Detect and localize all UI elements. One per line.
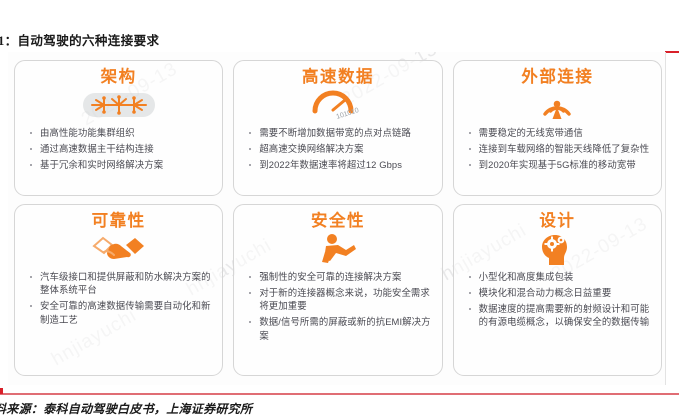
- speedometer-icon: 101010: [242, 88, 433, 122]
- list-item: 连接到车载网络的智能天线降低了复杂性: [466, 142, 651, 155]
- requirement-card-high-speed-data[interactable]: 高速数据 101010 需要不断增加数据带宽的点对点链路 超高速交换网络解决方案…: [233, 60, 442, 196]
- bottom-red-rule: [0, 393, 679, 395]
- list-item: 对于新的连接器概念来说，功能安全需求将更加重要: [246, 286, 431, 313]
- card-bullet-list: 小型化和高度集成包装 模块化和混合动力概念日益重要 数据速度的提高需要新的射频设…: [462, 270, 653, 328]
- list-item: 由高性能功能集群组织: [27, 126, 212, 139]
- list-item: 小型化和高度集成包装: [466, 270, 651, 283]
- list-item: 基于冗余和实时网络解决方案: [27, 158, 212, 171]
- requirement-card-external-connectivity[interactable]: 外部连接 需要稳定的无线宽带通信 连接到车载网络的智能天线降低了复杂性 到202…: [453, 60, 662, 196]
- card-title: 设计: [462, 212, 653, 230]
- bottom-rule-cap: [0, 388, 3, 394]
- list-item: 需要不断增加数据带宽的点对点链路: [246, 126, 431, 139]
- card-title: 高速数据: [242, 68, 433, 86]
- figure-source: 料来源：泰科自动驾驶白皮书，上海证券研究所: [0, 400, 252, 417]
- list-item: 数据速度的提高需要新的射频设计和可能的有源电缆概念，以确保安全的数据传输: [466, 302, 651, 329]
- head-gears-icon: [462, 232, 653, 266]
- card-bullet-list: 由高性能功能集群组织 通过高速数据主干结构连接 基于冗余和实时网络解决方案: [23, 126, 214, 171]
- list-item: 数据/信号所需的屏蔽或新的抗EMI解决方案: [246, 315, 431, 342]
- list-item: 强制性的安全可靠的连接解决方案: [246, 270, 431, 283]
- list-item: 安全可靠的高速数据传输需要自动化和新制造工艺: [27, 299, 212, 326]
- figure-canvas: 2022-09-13 hnjiayuchi 2022-09-13 hnjiayu…: [8, 52, 666, 385]
- card-bullet-list: 强制性的安全可靠的连接解决方案 对于新的连接器概念来说，功能安全需求将更加重要 …: [242, 270, 433, 342]
- list-item: 通过高速数据主干结构连接: [27, 142, 212, 155]
- list-item: 到2022年数据速率将超过12 Gbps: [246, 158, 431, 171]
- handshake-icon: [23, 232, 214, 266]
- airbag-person-icon: [242, 232, 433, 266]
- card-title: 安全性: [242, 212, 433, 230]
- card-bullet-list: 需要稳定的无线宽带通信 连接到车载网络的智能天线降低了复杂性 到2020年实现基…: [462, 126, 653, 171]
- requirement-card-reliability[interactable]: 可靠性 汽车级接口和提供屏蔽和防水解决方案的整体系统平台 安全可靠的高速数据传输…: [14, 204, 223, 376]
- card-title: 架构: [23, 68, 214, 86]
- list-item: 超高速交换网络解决方案: [246, 142, 431, 155]
- top-red-rule: [665, 51, 679, 53]
- requirement-card-design[interactable]: 设计 小型化和高度集成包装 模块化和混合动力概念日益重要 数据速度的: [453, 204, 662, 376]
- svg-text:101010: 101010: [335, 107, 359, 121]
- network-architecture-icon: [23, 88, 214, 122]
- list-item: 汽车级接口和提供屏蔽和防水解决方案的整体系统平台: [27, 270, 212, 297]
- list-item: 需要稳定的无线宽带通信: [466, 126, 651, 139]
- list-item: 模块化和混合动力概念日益重要: [466, 286, 651, 299]
- figure-title: 11：自动驾驶的六种连接要求: [0, 30, 392, 49]
- requirement-card-safety[interactable]: 安全性 强制性的安全可靠的连接解决方案 对于新的连接器概念来说，功能安全需求将更…: [233, 204, 442, 376]
- antenna-broadcast-icon: [462, 88, 653, 122]
- requirement-card-grid: 架构: [14, 60, 662, 376]
- list-item: 到2020年实现基于5G标准的移动宽带: [466, 158, 651, 171]
- card-bullet-list: 需要不断增加数据带宽的点对点链路 超高速交换网络解决方案 到2022年数据速率将…: [242, 126, 433, 171]
- requirement-card-architecture[interactable]: 架构: [14, 60, 223, 196]
- card-bullet-list: 汽车级接口和提供屏蔽和防水解决方案的整体系统平台 安全可靠的高速数据传输需要自动…: [23, 270, 214, 326]
- card-title: 可靠性: [23, 212, 214, 230]
- card-title: 外部连接: [462, 68, 653, 86]
